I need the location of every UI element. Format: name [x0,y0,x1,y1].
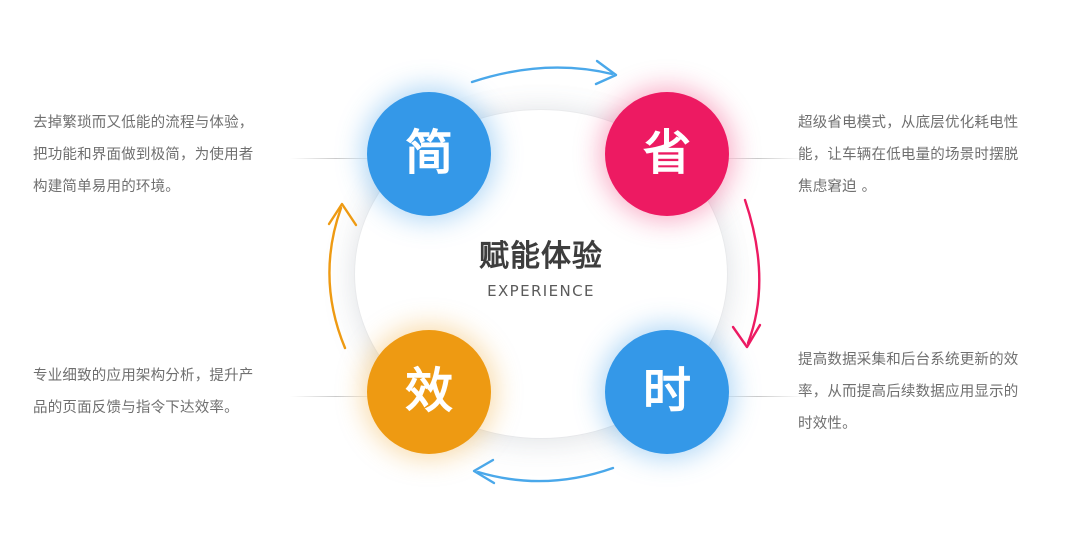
description-sheng-line-2: 能，让车辆在低电量的场景时摆脱 [798,139,1060,171]
description-shi-line-1: 提高数据采集和后台系统更新的效 [798,344,1060,376]
node-xiao[interactable]: 效 [367,330,491,454]
description-jian-line-3: 构建简单易用的环境。 [33,171,295,203]
description-sheng: 超级省电模式，从底层优化耗电性 能，让车辆在低电量的场景时摆脱 焦虑窘迫 。 [798,107,1060,203]
node-jian-char: 简 [405,129,453,177]
description-jian: 去掉繁琐而又低能的流程与体验， 把功能和界面做到极简，为使用者 构建简单易用的环… [33,107,295,203]
node-sheng-char: 省 [643,129,691,177]
node-jian[interactable]: 简 [367,92,491,216]
node-sheng[interactable]: 省 [605,92,729,216]
node-xiao-char: 效 [405,367,453,415]
node-shi[interactable]: 时 [605,330,729,454]
arrow-top-jian-to-sheng [472,61,616,84]
description-sheng-line-3: 焦虑窘迫 。 [798,171,1060,203]
arrow-left-xiao-to-jian [329,204,356,348]
arrow-right-sheng-to-shi [733,200,760,347]
description-jian-line-2: 把功能和界面做到极简，为使用者 [33,139,295,171]
infographic-canvas: 简 省 效 时 赋能体验 EXPERIENCE 去掉繁琐而又低能的流程与体验， … [0,0,1082,548]
node-shi-char: 时 [643,367,691,415]
description-shi: 提高数据采集和后台系统更新的效 率，从而提高后续数据应用显示的 时效性。 [798,344,1060,440]
description-xiao-line-2: 品的页面反馈与指令下达效率。 [33,392,295,424]
description-sheng-line-1: 超级省电模式，从底层优化耗电性 [798,107,1060,139]
description-xiao: 专业细致的应用架构分析，提升产 品的页面反馈与指令下达效率。 [33,360,295,424]
description-jian-line-1: 去掉繁琐而又低能的流程与体验， [33,107,295,139]
arrow-bottom-shi-to-xiao [474,460,613,483]
description-xiao-line-1: 专业细致的应用架构分析，提升产 [33,360,295,392]
description-shi-line-3: 时效性。 [798,408,1060,440]
description-shi-line-2: 率，从而提高后续数据应用显示的 [798,376,1060,408]
